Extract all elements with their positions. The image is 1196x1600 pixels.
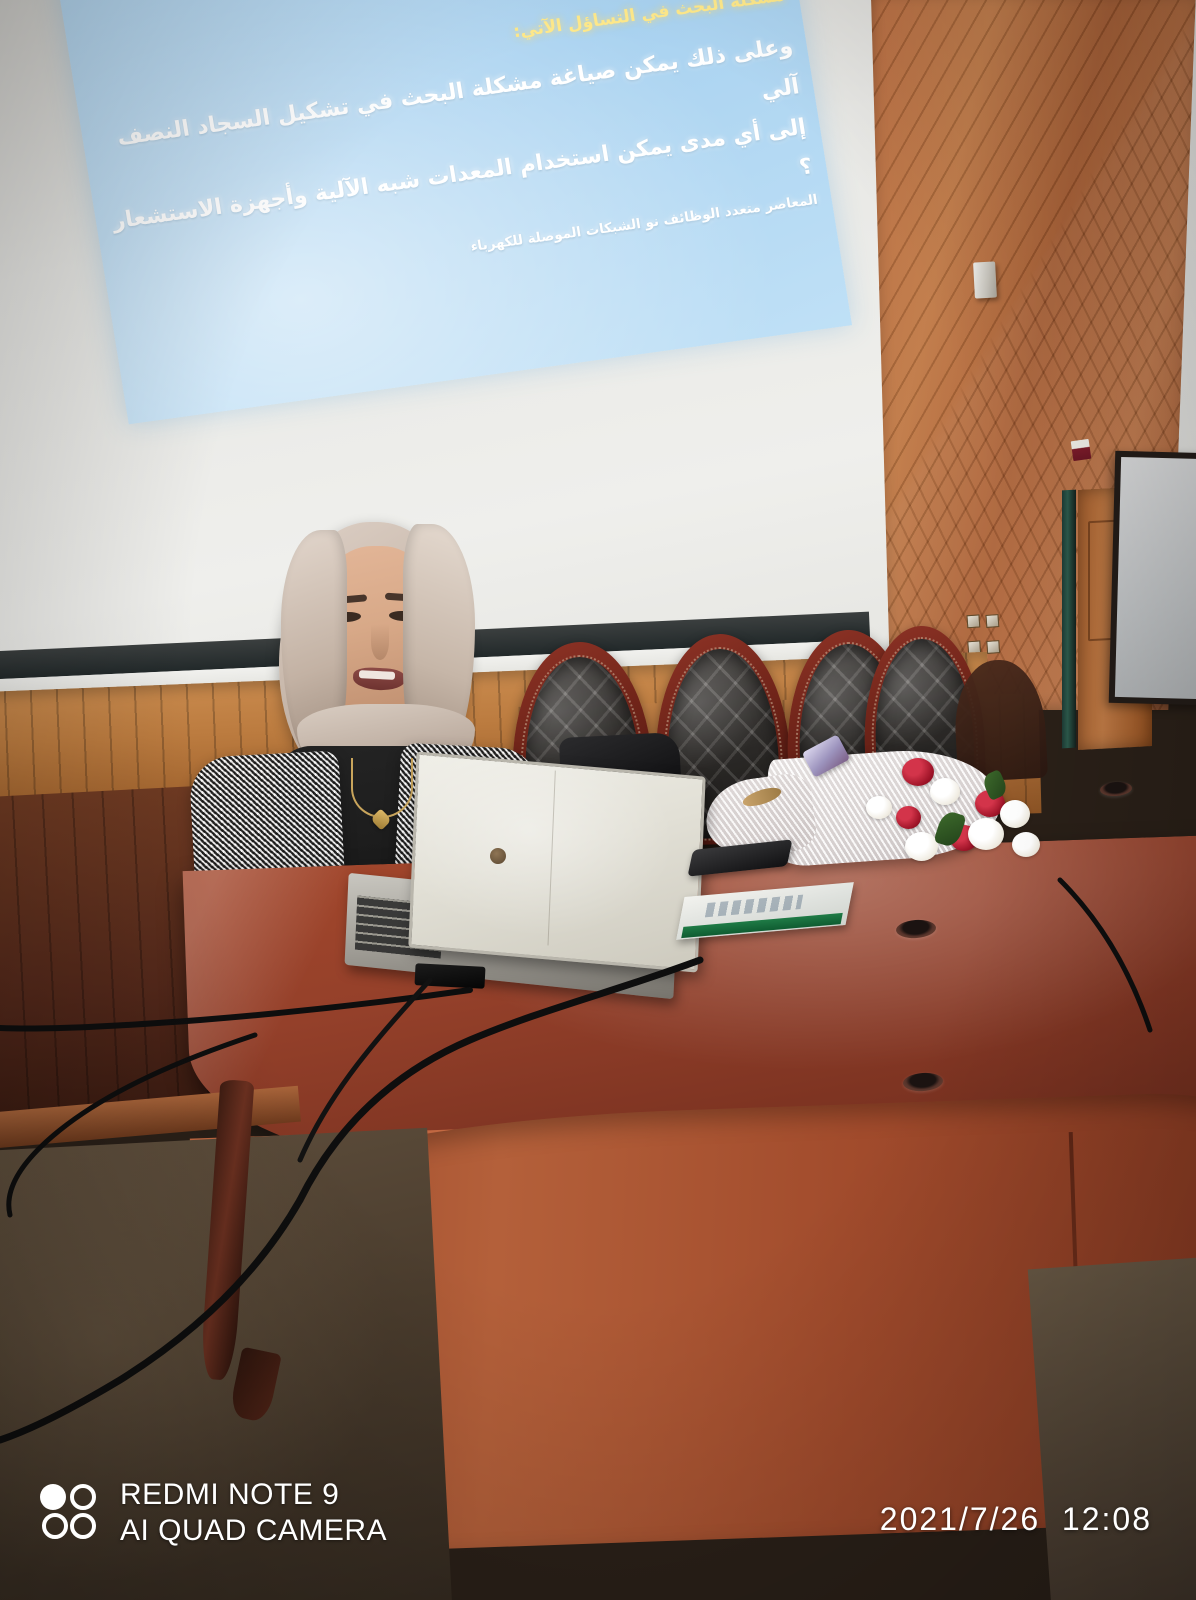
- watermark-camera: AI QUAD CAMERA: [120, 1513, 387, 1548]
- photograph: وربطها بالمنتج النهائي والحركي تتبع السط…: [0, 0, 1196, 1600]
- camera-watermark: REDMI NOTE 9 AI QUAD CAMERA: [40, 1477, 387, 1548]
- power-cables: [0, 0, 1196, 1600]
- photo-timestamp: 2021/7/26 12:08: [880, 1501, 1152, 1538]
- quad-camera-icon: [40, 1482, 102, 1544]
- watermark-text: REDMI NOTE 9 AI QUAD CAMERA: [120, 1477, 387, 1548]
- watermark-device: REDMI NOTE 9: [120, 1477, 387, 1512]
